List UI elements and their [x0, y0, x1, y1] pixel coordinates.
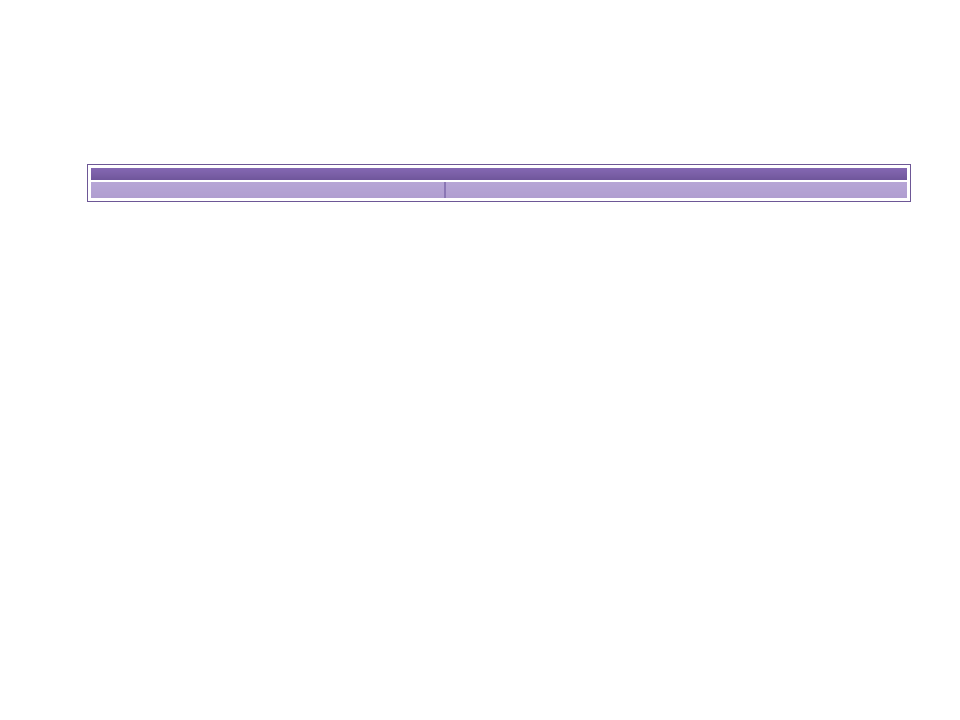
column-body-performance-output [446, 182, 907, 198]
leaf-border-left [0, 0, 110, 690]
slide-canvas [0, 0, 960, 720]
leaf-border-top [0, 0, 960, 185]
column-header-performance-output [446, 168, 907, 180]
table-header-row [91, 168, 907, 180]
column-header-written-output [91, 168, 446, 180]
leaf-border-right [850, 0, 960, 700]
table-body-row [91, 180, 907, 198]
column-body-written-output [91, 182, 446, 198]
output-types-table [88, 165, 910, 201]
